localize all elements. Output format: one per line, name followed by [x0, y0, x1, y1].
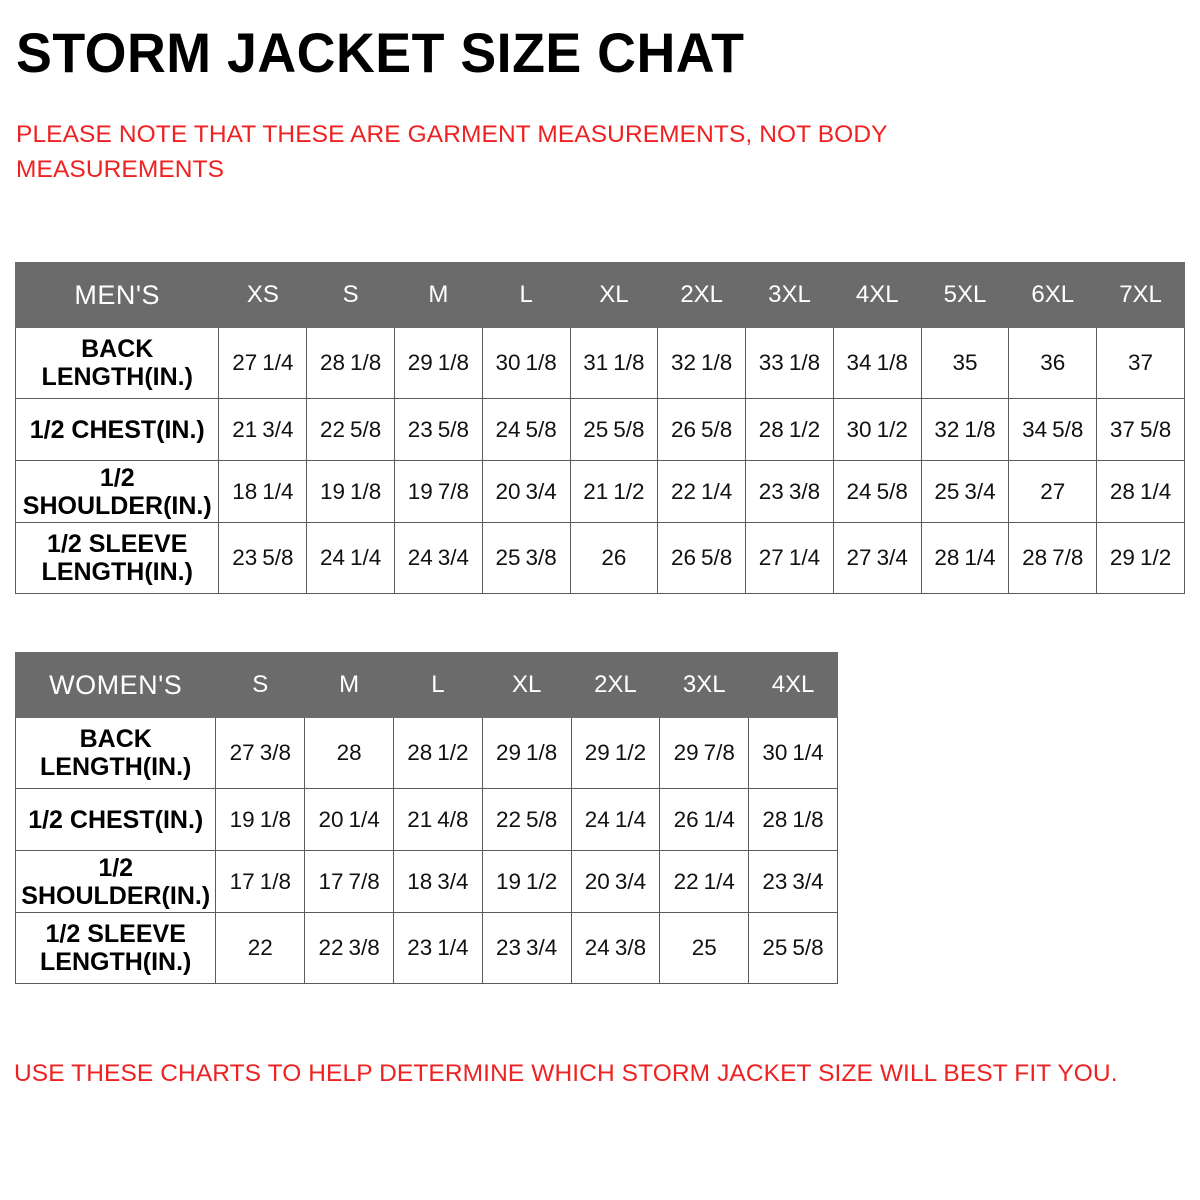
measurement-value: 265/8 — [658, 523, 746, 594]
measurement-value: 273/8 — [216, 718, 305, 789]
size-header-l: L — [393, 653, 482, 718]
size-header-6xl: 6XL — [1009, 263, 1097, 328]
womens-size-table: WOMEN'S SMLXL2XL3XL4XL BACK LENGTH(IN.)2… — [15, 652, 838, 984]
measurement-value: 214/8 — [393, 789, 482, 851]
measurement-value: 233/4 — [749, 851, 838, 913]
size-header-s: S — [216, 653, 305, 718]
measurement-value: 301/2 — [833, 399, 921, 461]
table-header-row: MEN'S XSSMLXL2XL3XL4XL5XL6XL7XL — [16, 263, 1185, 328]
measurement-value: 221/4 — [658, 461, 746, 523]
table-row: 1/2 SLEEVE LENGTH(IN.)22223/8231/4233/42… — [16, 913, 838, 984]
table-row: 1/2 SLEEVE LENGTH(IN.)235/8241/4243/4253… — [16, 523, 1185, 594]
measurement-value-text: 245/8 — [847, 479, 908, 504]
size-header-l: L — [482, 263, 570, 328]
measurement-value-text: 171/8 — [230, 869, 291, 894]
measurement-value-text: 243/4 — [408, 545, 469, 570]
table-row: BACK LENGTH(IN.)273/828281/2291/8291/229… — [16, 718, 838, 789]
measurement-value-text: 301/4 — [762, 740, 823, 765]
measurement-value: 201/4 — [305, 789, 394, 851]
measurement-value: 287/8 — [1009, 523, 1097, 594]
measurement-value-text: 287/8 — [1022, 545, 1083, 570]
measurement-value-text: 211/2 — [583, 479, 644, 504]
size-header-xs: XS — [219, 263, 307, 328]
measurement-value: 273/4 — [833, 523, 921, 594]
measurement-value: 331/8 — [746, 328, 834, 399]
measurement-value-text: 27 — [1040, 479, 1065, 504]
measurement-value: 297/8 — [660, 718, 749, 789]
mens-size-table: MEN'S XSSMLXL2XL3XL4XL5XL6XL7XL BACK LEN… — [15, 262, 1185, 594]
measurement-label: 1/2 SLEEVE LENGTH(IN.) — [16, 523, 219, 594]
measurement-value: 345/8 — [1009, 399, 1097, 461]
measurement-value-text: 225/8 — [320, 417, 381, 442]
measurement-value: 235/8 — [395, 399, 483, 461]
measurement-value: 245/8 — [482, 399, 570, 461]
size-header-xl: XL — [570, 263, 658, 328]
measurement-value: 245/8 — [833, 461, 921, 523]
measurement-value-text: 26 — [601, 545, 626, 570]
measurement-value: 26 — [570, 523, 658, 594]
size-header-xl: XL — [482, 653, 571, 718]
measurement-value-text: 311/8 — [583, 350, 644, 375]
measurement-value-text: 281/8 — [320, 350, 381, 375]
measurement-label: 1/2 CHEST(IN.) — [16, 789, 216, 851]
measurement-value: 225/8 — [307, 399, 395, 461]
measurement-value-text: 291/8 — [496, 740, 557, 765]
measurement-value: 291/8 — [395, 328, 483, 399]
mens-table-body: BACK LENGTH(IN.)271/4281/8291/8301/8311/… — [16, 328, 1185, 594]
measurement-value-text: 255/8 — [762, 935, 823, 960]
womens-size-table-container: WOMEN'S SMLXL2XL3XL4XL BACK LENGTH(IN.)2… — [15, 652, 838, 984]
measurement-value: 203/4 — [482, 461, 570, 523]
measurement-value-text: 245/8 — [495, 417, 556, 442]
measurement-value: 181/4 — [219, 461, 307, 523]
measurement-value-text: 291/8 — [408, 350, 469, 375]
measurement-value-text: 291/2 — [1110, 545, 1171, 570]
measurement-value-text: 291/2 — [585, 740, 646, 765]
measurement-value: 211/2 — [570, 461, 658, 523]
size-header-5xl: 5XL — [921, 263, 1009, 328]
measurement-value: 341/8 — [833, 328, 921, 399]
measurement-value: 281/8 — [307, 328, 395, 399]
measurement-label: BACK LENGTH(IN.) — [16, 328, 219, 399]
size-header-3xl: 3XL — [746, 263, 834, 328]
size-header-7xl: 7XL — [1097, 263, 1185, 328]
measurement-value-text: 231/4 — [407, 935, 468, 960]
measurement-value-text: 233/8 — [759, 479, 820, 504]
measurement-value-text: 331/8 — [759, 350, 820, 375]
measurement-value-text: 281/4 — [934, 545, 995, 570]
table-row: 1/2 CHEST(IN.)213/4225/8235/8245/8255/82… — [16, 399, 1185, 461]
measurement-value: 321/8 — [921, 399, 1009, 461]
mens-corner-label: MEN'S — [16, 263, 219, 328]
measurement-value: 255/8 — [749, 913, 838, 984]
size-header-m: M — [305, 653, 394, 718]
measurement-value: 203/4 — [571, 851, 660, 913]
measurement-value-text: 273/4 — [847, 545, 908, 570]
footer-note: USE THESE CHARTS TO HELP DETERMINE WHICH… — [14, 1058, 1174, 1090]
womens-table-body: BACK LENGTH(IN.)273/828281/2291/8291/229… — [16, 718, 838, 984]
measurement-value-text: 191/8 — [230, 807, 291, 832]
measurement-value-text: 36 — [1040, 350, 1065, 375]
mens-table-header: MEN'S XSSMLXL2XL3XL4XL5XL6XL7XL — [16, 263, 1185, 328]
measurement-value-text: 37 — [1128, 350, 1153, 375]
womens-corner-label: WOMEN'S — [16, 653, 216, 718]
measurement-value: 291/2 — [571, 718, 660, 789]
measurement-label: 1/2 CHEST(IN.) — [16, 399, 219, 461]
measurement-value: 291/2 — [1097, 523, 1185, 594]
size-header-2xl: 2XL — [571, 653, 660, 718]
measurement-value-text: 281/2 — [407, 740, 468, 765]
measurement-value: 281/4 — [1097, 461, 1185, 523]
measurement-value: 235/8 — [219, 523, 307, 594]
measurement-value-text: 203/4 — [585, 869, 646, 894]
measurement-value-text: 255/8 — [583, 417, 644, 442]
measurement-value: 225/8 — [482, 789, 571, 851]
measurement-value: 27 — [1009, 461, 1097, 523]
measurement-value-text: 235/8 — [232, 545, 293, 570]
measurement-value: 291/8 — [482, 718, 571, 789]
table-row: BACK LENGTH(IN.)271/4281/8291/8301/8311/… — [16, 328, 1185, 399]
measurement-value-text: 197/8 — [408, 479, 469, 504]
measurement-value-text: 265/8 — [671, 545, 732, 570]
measurement-value: 253/4 — [921, 461, 1009, 523]
measurement-value: 183/4 — [393, 851, 482, 913]
measurement-value: 233/8 — [746, 461, 834, 523]
measurement-label: 1/2 SLEEVE LENGTH(IN.) — [16, 913, 216, 984]
measurement-value-text: 241/4 — [320, 545, 381, 570]
mens-size-table-container: MEN'S XSSMLXL2XL3XL4XL5XL6XL7XL BACK LEN… — [15, 262, 1185, 594]
measurement-value: 35 — [921, 328, 1009, 399]
measurement-value: 233/4 — [482, 913, 571, 984]
measurement-value: 281/2 — [393, 718, 482, 789]
table-row: 1/2 SHOULDER(IN.)181/4191/8197/8203/4211… — [16, 461, 1185, 523]
measurement-value-text: 28 — [337, 740, 362, 765]
measurement-value: 255/8 — [570, 399, 658, 461]
measurement-value-text: 177/8 — [318, 869, 379, 894]
page-title: STORM JACKET SIZE CHAT — [16, 22, 744, 84]
measurement-value: 25 — [660, 913, 749, 984]
measurement-value-text: 253/4 — [934, 479, 995, 504]
measurement-value-text: 191/2 — [496, 869, 557, 894]
measurement-value-text: 271/4 — [232, 350, 293, 375]
measurement-value: 281/4 — [921, 523, 1009, 594]
measurement-value: 321/8 — [658, 328, 746, 399]
measurement-value-text: 223/8 — [318, 935, 379, 960]
measurement-value: 253/8 — [482, 523, 570, 594]
measurement-value-text: 35 — [952, 350, 977, 375]
measurement-value-text: 281/4 — [1110, 479, 1171, 504]
womens-table-header: WOMEN'S SMLXL2XL3XL4XL — [16, 653, 838, 718]
measurement-value: 197/8 — [395, 461, 483, 523]
measurement-value-text: 281/2 — [759, 417, 820, 442]
measurement-value-text: 183/4 — [407, 869, 468, 894]
measurement-value-text: 221/4 — [671, 479, 732, 504]
measurement-label: 1/2 SHOULDER(IN.) — [16, 461, 219, 523]
measurement-value: 191/8 — [307, 461, 395, 523]
measurement-value-text: 235/8 — [408, 417, 469, 442]
measurement-value: 271/4 — [746, 523, 834, 594]
size-header-4xl: 4XL — [749, 653, 838, 718]
measurement-value-text: 321/8 — [671, 350, 732, 375]
size-header-4xl: 4XL — [833, 263, 921, 328]
measurement-value-text: 233/4 — [496, 935, 557, 960]
measurement-value-text: 271/4 — [759, 545, 820, 570]
measurement-value-text: 281/8 — [762, 807, 823, 832]
measurement-value: 37 — [1097, 328, 1185, 399]
table-header-row: WOMEN'S SMLXL2XL3XL4XL — [16, 653, 838, 718]
measurement-value-text: 375/8 — [1110, 417, 1171, 442]
measurement-value-text: 243/8 — [585, 935, 646, 960]
table-row: 1/2 SHOULDER(IN.)171/8177/8183/4191/2203… — [16, 851, 838, 913]
measurement-value: 171/8 — [216, 851, 305, 913]
measurement-value-text: 301/2 — [847, 417, 908, 442]
measurement-value-text: 221/4 — [674, 869, 735, 894]
measurement-value-text: 214/8 — [407, 807, 468, 832]
size-header-m: M — [395, 263, 483, 328]
measurement-value: 191/2 — [482, 851, 571, 913]
measurement-value: 223/8 — [305, 913, 394, 984]
garment-measurement-note: PLEASE NOTE THAT THESE ARE GARMENT MEASU… — [16, 118, 976, 188]
measurement-value-text: 345/8 — [1022, 417, 1083, 442]
measurement-value: 243/8 — [571, 913, 660, 984]
measurement-value: 243/4 — [395, 523, 483, 594]
measurement-value: 301/8 — [482, 328, 570, 399]
measurement-value: 191/8 — [216, 789, 305, 851]
measurement-value: 375/8 — [1097, 399, 1185, 461]
measurement-value: 36 — [1009, 328, 1097, 399]
measurement-value-text: 225/8 — [496, 807, 557, 832]
measurement-value-text: 297/8 — [674, 740, 735, 765]
measurement-value: 281/8 — [749, 789, 838, 851]
measurement-value: 301/4 — [749, 718, 838, 789]
table-row: 1/2 CHEST(IN.)191/8201/4214/8225/8241/42… — [16, 789, 838, 851]
measurement-value-text: 253/8 — [495, 545, 556, 570]
measurement-value-text: 22 — [248, 935, 273, 960]
measurement-value: 177/8 — [305, 851, 394, 913]
measurement-value: 241/4 — [307, 523, 395, 594]
measurement-value-text: 273/8 — [230, 740, 291, 765]
measurement-label: 1/2 SHOULDER(IN.) — [16, 851, 216, 913]
measurement-value-text: 233/4 — [762, 869, 823, 894]
measurement-value: 271/4 — [219, 328, 307, 399]
measurement-value: 261/4 — [660, 789, 749, 851]
measurement-value-text: 25 — [692, 935, 717, 960]
measurement-value-text: 191/8 — [320, 479, 381, 504]
measurement-value: 281/2 — [746, 399, 834, 461]
measurement-value-text: 341/8 — [847, 350, 908, 375]
measurement-value: 221/4 — [660, 851, 749, 913]
size-header-2xl: 2XL — [658, 263, 746, 328]
size-chart-page: STORM JACKET SIZE CHAT PLEASE NOTE THAT … — [0, 0, 1200, 1200]
measurement-value-text: 181/4 — [232, 479, 293, 504]
measurement-value-text: 321/8 — [934, 417, 995, 442]
measurement-value: 22 — [216, 913, 305, 984]
measurement-value: 311/8 — [570, 328, 658, 399]
measurement-value-text: 213/4 — [232, 417, 293, 442]
measurement-value-text: 201/4 — [318, 807, 379, 832]
measurement-value-text: 265/8 — [671, 417, 732, 442]
measurement-value: 265/8 — [658, 399, 746, 461]
measurement-value-text: 203/4 — [495, 479, 556, 504]
measurement-value: 28 — [305, 718, 394, 789]
size-header-3xl: 3XL — [660, 653, 749, 718]
measurement-label: BACK LENGTH(IN.) — [16, 718, 216, 789]
measurement-value: 241/4 — [571, 789, 660, 851]
measurement-value: 213/4 — [219, 399, 307, 461]
measurement-value: 231/4 — [393, 913, 482, 984]
measurement-value-text: 301/8 — [495, 350, 556, 375]
measurement-value-text: 241/4 — [585, 807, 646, 832]
size-header-s: S — [307, 263, 395, 328]
measurement-value-text: 261/4 — [674, 807, 735, 832]
